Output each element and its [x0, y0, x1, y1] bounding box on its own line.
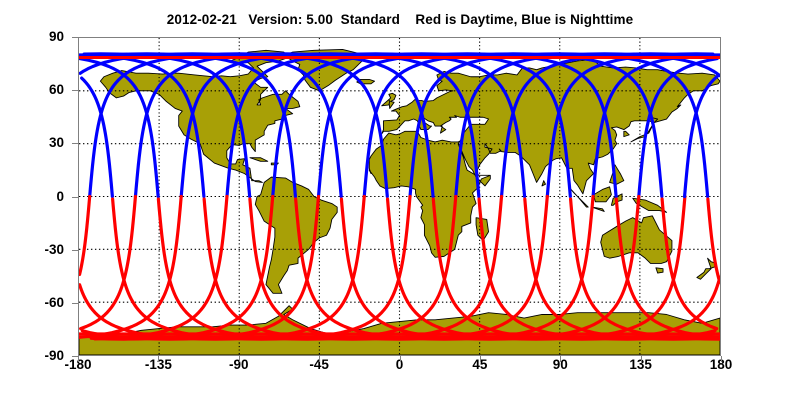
y-tick-mark — [72, 250, 78, 251]
y-tick-label: 90 — [0, 30, 64, 44]
y-tick-label: 0 — [0, 190, 64, 204]
ground-track-daytime — [80, 197, 90, 275]
x-tick-mark — [319, 356, 320, 362]
y-tick-label: -30 — [0, 243, 64, 257]
x-tick-mark — [239, 356, 240, 362]
x-tick-mark — [560, 356, 561, 362]
landmass — [250, 158, 268, 162]
x-tick-mark — [78, 356, 79, 362]
x-tick-mark — [721, 356, 722, 362]
y-tick-mark — [72, 37, 78, 38]
ground-track-daytime — [91, 197, 272, 340]
landmass — [592, 207, 604, 211]
y-tick-label: 60 — [0, 83, 64, 97]
x-tick-mark — [480, 356, 481, 362]
y-tick-label: 30 — [0, 136, 64, 150]
y-tick-mark — [72, 303, 78, 304]
landmass — [542, 181, 546, 186]
y-tick-mark — [72, 197, 78, 198]
landmass — [656, 268, 663, 273]
ground-track-map: 2012-02-21 Version: 5.00 Standard Red is… — [0, 0, 800, 400]
x-tick-mark — [158, 356, 159, 362]
chart-title: 2012-02-21 Version: 5.00 Standard Red is… — [0, 12, 800, 27]
ground-track-daytime — [113, 197, 410, 340]
y-tick-label: -60 — [0, 296, 64, 310]
y-tick-mark — [72, 143, 78, 144]
y-tick-mark — [72, 90, 78, 91]
x-tick-mark — [641, 356, 642, 362]
landmass — [594, 187, 612, 202]
landmass — [624, 131, 629, 136]
landmass — [610, 165, 624, 184]
plot-area — [78, 37, 721, 356]
x-tick-mark — [400, 356, 401, 362]
world-map-svg — [79, 38, 720, 355]
landmass — [382, 100, 390, 106]
